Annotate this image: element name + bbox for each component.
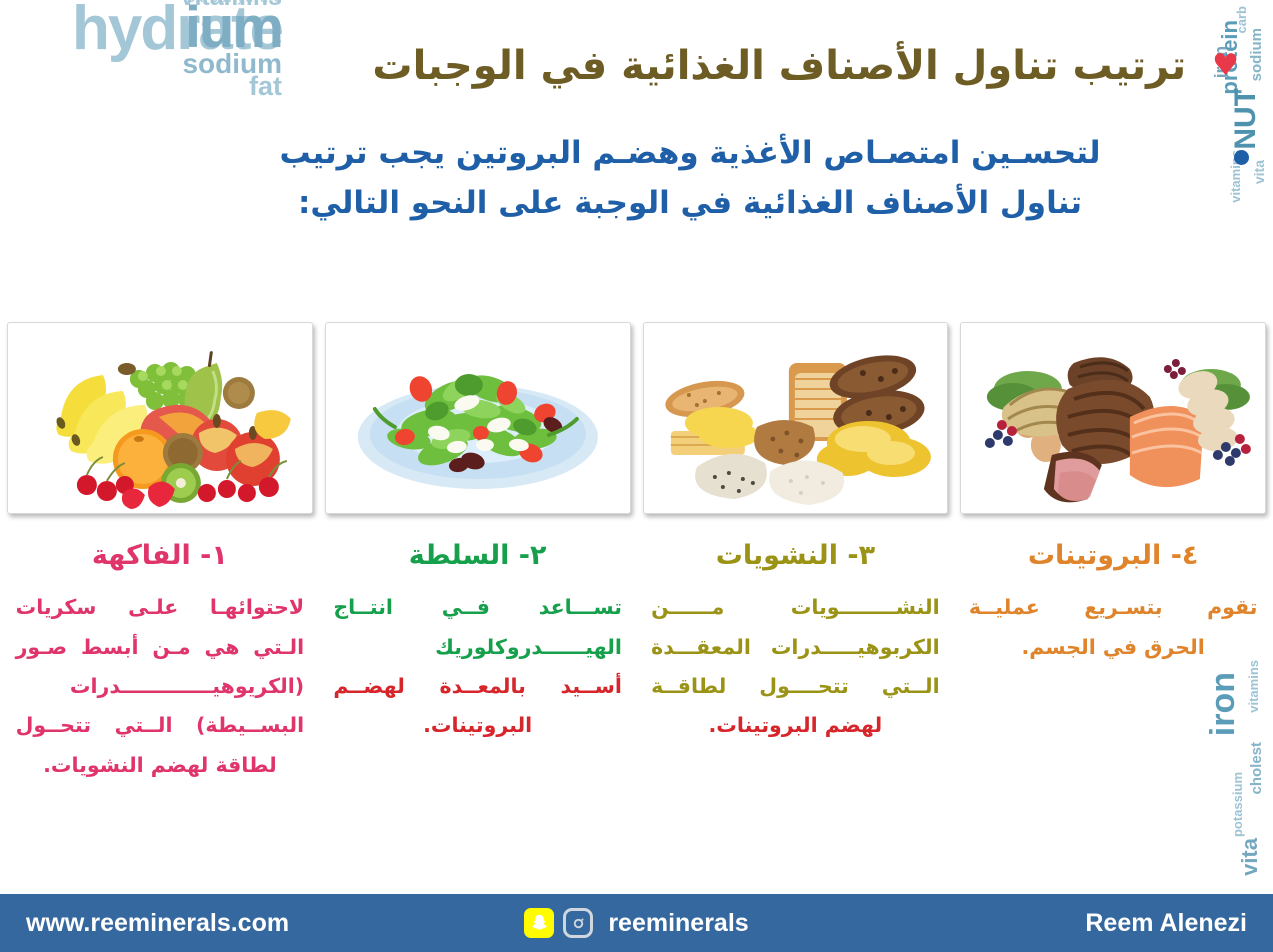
fruits-line-3: (الكريوهيـــــــــــــدرات (16, 667, 305, 706)
starches-line-2: الكربوهيـــــدرات المعقـــدة (651, 628, 940, 667)
instagram-icon[interactable] (563, 908, 593, 938)
page-title: ترتيب تناول الأصناف الغذائية في الوجبات (372, 41, 1186, 91)
salad-line-3: أســيد بالمعــدة لهضــم (333, 667, 622, 706)
proteins-illustration (965, 327, 1261, 509)
salad-line-1: تســـاعد فــي انتــاج (333, 588, 622, 627)
slide-root: carbohydrate hydrate cholesterol sodium … (0, 0, 1273, 952)
fruits-body: لاحتوائهـا علـى سكريات الـتي هي مـن أبسط… (16, 588, 305, 785)
column-fruits: ١- الفاكهة لاحتوائهـا علـى سكريات الـتي … (8, 322, 312, 785)
salad-photo-frame (325, 322, 631, 514)
title-row: ♥ ترتيب تناول الأصناف الغذائية في الوجبا… (330, 14, 1239, 118)
fruits-line-4: البســيطة) الــتي تتحــول (16, 706, 305, 745)
starches-heading: ٣- النشويات (716, 540, 875, 572)
salad-heading: ٢- السلطة (409, 540, 547, 572)
starches-illustration (648, 327, 944, 509)
fruits-illustration (12, 327, 308, 509)
fruits-line-2: الـتي هي مـن أبسط صـور (16, 628, 305, 667)
proteins-line-2: الحرق في الجسم. (969, 628, 1258, 667)
wordcloud-word: vitamins (22, 0, 282, 9)
proteins-body: تقوم بتسـريع عمليــة الحرق في الجسم. (969, 588, 1258, 667)
proteins-photo-frame (960, 322, 1266, 514)
wordcloud-word: ium (0, 3, 282, 52)
wordcloud-word: sodium (40, 52, 282, 76)
food-columns: ٤- البروتينات تقوم بتسـريع عمليــة الحرق… (8, 322, 1265, 785)
fruits-line-5: لطاقة لهضم النشويات. (16, 746, 305, 785)
footer-bar: Reem Alenezi reeminerals www.reeminerals… (0, 894, 1273, 952)
salad-line-2: الهيــــــدروكلوريك (333, 628, 622, 667)
fruits-photo (12, 327, 308, 509)
fruits-line-1: لاحتوائهـا علـى سكريات (16, 588, 305, 627)
proteins-heading: ٤- البروتينات (1028, 540, 1199, 572)
proteins-line-1: تقوم بتسـريع عمليــة (969, 588, 1258, 627)
intro-text: لتحسـين امتصـاص الأغذية وهضـم البروتين ي… (160, 128, 1220, 228)
intro-bullet: لتحسـين امتصـاص الأغذية وهضـم البروتين ي… (160, 128, 1249, 228)
wordcloud-word: carbohydrate (0, 0, 282, 3)
intro-line-1: لتحسـين امتصـاص الأغذية وهضـم البروتين ي… (160, 128, 1220, 178)
column-salad: ٢- السلطة تســـاعد فــي انتــاج الهيــــ… (326, 322, 630, 785)
website-link[interactable]: www.reeminerals.com (26, 909, 289, 938)
fruits-heading: ١- الفاكهة (92, 540, 228, 572)
bullet-dot-icon (1234, 150, 1249, 165)
wordcloud-word: sodium (1248, 28, 1265, 81)
wordcloud-word: vita (1251, 160, 1267, 184)
wordcloud-word: fat (38, 75, 282, 98)
social-handle: reeminerals (608, 909, 748, 938)
column-proteins: ٤- البروتينات تقوم بتسـريع عمليــة الحرق… (961, 322, 1265, 785)
salad-body: تســـاعد فــي انتــاج الهيــــــدروكلوري… (333, 588, 622, 745)
salad-photo (330, 327, 626, 509)
starches-photo-frame (643, 322, 949, 514)
wordcloud-word: hydrate (0, 3, 282, 56)
starches-line-4: لهضم البروتينات. (651, 706, 940, 745)
heart-icon: ♥ (1212, 51, 1239, 81)
proteins-photo (965, 327, 1261, 509)
intro-line-2: تناول الأصناف الغذائية في الوجبة على الن… (160, 178, 1220, 228)
fruits-photo-frame (7, 322, 313, 514)
snapchat-icon[interactable] (524, 908, 554, 938)
column-starches: ٣- النشويات النشــــــــويات مــــــن ال… (644, 322, 948, 785)
starches-photo (648, 327, 944, 509)
starches-line-3: الــتي تتحــــول لطاقــة (651, 667, 940, 706)
salad-illustration (330, 327, 626, 509)
salad-line-4: البروتينات. (333, 706, 622, 745)
starches-body: النشــــــــويات مــــــن الكربوهيـــــد… (651, 588, 940, 745)
wordcloud-word: vita (1237, 838, 1263, 876)
starches-line-1: النشــــــــويات مــــــن (651, 588, 940, 627)
